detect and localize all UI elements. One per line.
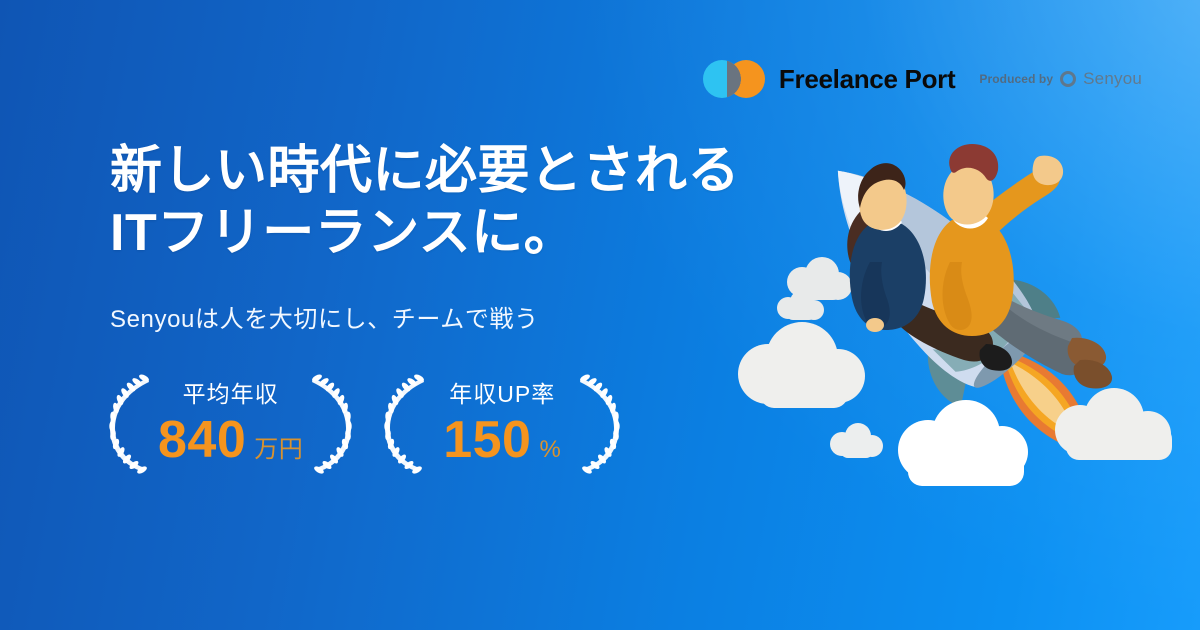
two-overlapping-circles-icon xyxy=(703,60,765,98)
stat-number: 840 xyxy=(158,414,246,466)
stat-average-income: 平均年収 840 万円 xyxy=(104,372,357,476)
headline-line-1: 新しい時代に必要とされる xyxy=(110,140,770,202)
man-shoe-2 xyxy=(1074,360,1112,389)
stat-unit: 万円 xyxy=(254,438,303,462)
logo-circle-overlap xyxy=(727,60,741,98)
laurel-wreath-icon xyxy=(309,372,357,476)
stats-group: 平均年収 840 万円 xyxy=(104,372,625,476)
stat-value: 840 万円 xyxy=(158,414,303,466)
stat-label: 年収UP率 xyxy=(433,383,571,406)
stat-unit: % xyxy=(539,438,561,462)
produced-by-label: Produced by xyxy=(979,72,1053,86)
stat-content: 年収UP率 150 % xyxy=(427,383,577,466)
man-fist xyxy=(1033,156,1064,185)
woman-hand xyxy=(866,318,884,332)
brand-name: Freelance Port xyxy=(779,64,955,95)
laurel-wreath-icon xyxy=(379,372,427,476)
two-people-riding-rocket-illustration xyxy=(750,112,1180,512)
cloud-puff-lower-left xyxy=(830,423,883,458)
hero-banner: Freelance Port Produced by Senyou 新しい時代に… xyxy=(0,0,1200,630)
headline-line-2: ITフリーランスに。 xyxy=(110,202,770,264)
cloud-bottom-center xyxy=(898,400,1028,486)
laurel-wreath-icon xyxy=(104,372,152,476)
stat-value: 150 % xyxy=(433,414,571,466)
laurel-wreath-icon xyxy=(577,372,625,476)
stat-label: 平均年収 xyxy=(158,383,303,406)
page-title: 新しい時代に必要とされる ITフリーランスに。 xyxy=(110,140,770,265)
stat-content: 平均年収 840 万円 xyxy=(152,383,309,466)
stat-income-up-rate: 年収UP率 150 % xyxy=(379,372,625,476)
produced-by-group: Produced by Senyou xyxy=(979,69,1142,89)
hero-copy: 新しい時代に必要とされる ITフリーランスに。 Senyouは人を大切にし、チー… xyxy=(110,140,770,334)
brand-bar: Freelance Port Produced by Senyou xyxy=(703,60,1142,98)
man-sweater xyxy=(930,220,1014,336)
producer-name: Senyou xyxy=(1083,69,1142,89)
stat-number: 150 xyxy=(443,414,531,466)
cloud-left xyxy=(738,322,865,408)
senyou-ring-icon xyxy=(1060,71,1076,87)
hero-subtitle: Senyouは人を大切にし、チームで戦う xyxy=(110,299,770,334)
